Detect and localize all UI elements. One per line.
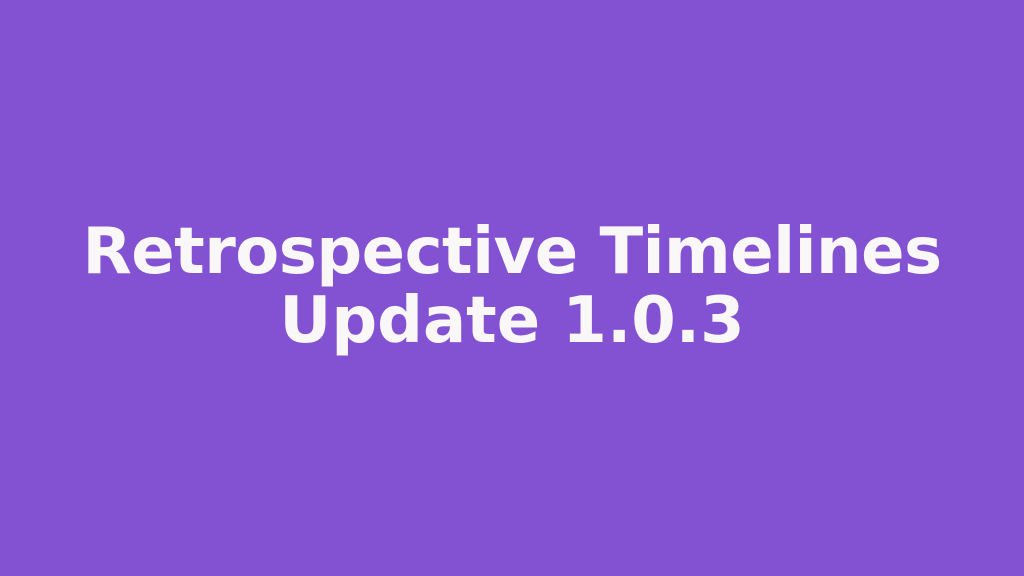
title-slide: Retrospective Timelines Update 1.0.3 xyxy=(0,0,1024,576)
title-line-primary: Retrospective Timelines xyxy=(48,218,976,287)
title-block: Retrospective Timelines Update 1.0.3 xyxy=(0,218,1024,356)
title-line-version: Update 1.0.3 xyxy=(48,287,976,356)
